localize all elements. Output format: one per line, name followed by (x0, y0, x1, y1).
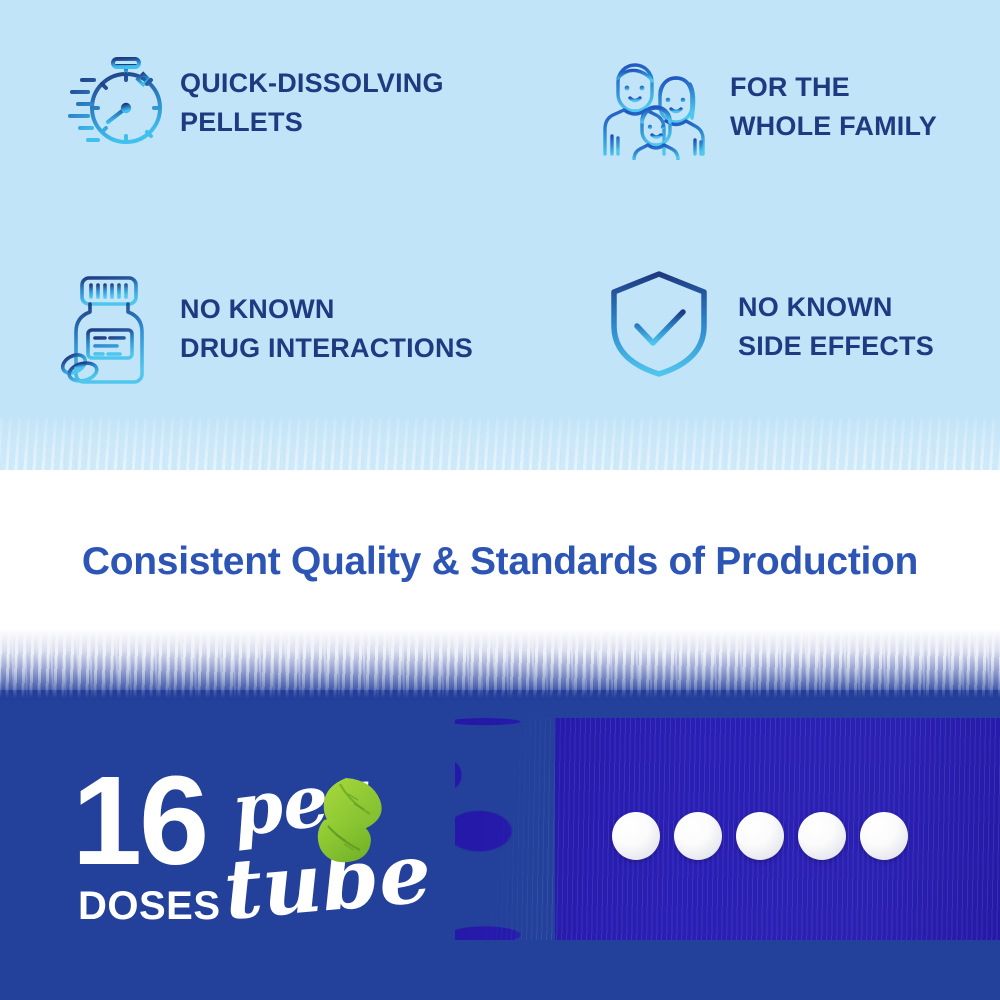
feature-line-1: QUICK-DISSOLVING (180, 68, 444, 98)
feature-line-2: SIDE EFFECTS (738, 331, 934, 361)
pellet-icon (674, 812, 722, 860)
pellet-icon (736, 812, 784, 860)
feature-line-2: PELLETS (180, 107, 303, 137)
doses-count: 16 (72, 758, 206, 884)
doses-label: DOSES (78, 884, 221, 929)
doses-block: 16 DOSES per tube (72, 762, 452, 937)
pellet-row (612, 812, 908, 860)
watercolor-grain-bottom (0, 618, 1000, 698)
pellet-icon (798, 812, 846, 860)
mint-leaf-icon (304, 772, 390, 873)
feature-line-2: WHOLE FAMILY (730, 111, 937, 141)
pellet-icon (612, 812, 660, 860)
feature-line-1: NO KNOWN (180, 294, 335, 324)
pellet-icon (860, 812, 908, 860)
feature-label: NO KNOWN SIDE EFFECTS (738, 288, 934, 365)
shield-check-icon (604, 266, 714, 387)
feature-line-2: DRUG INTERACTIONS (180, 333, 473, 363)
feature-no-side-effects: NO KNOWN SIDE EFFECTS (604, 266, 934, 387)
feature-line-1: FOR THE (730, 72, 850, 102)
feature-label: QUICK-DISSOLVING PELLETS (180, 64, 444, 141)
page-title: Consistent Quality & Standards of Produc… (0, 540, 1000, 584)
family-icon (598, 48, 710, 165)
infographic-root: QUICK-DISSOLVING PELLETS (0, 0, 1000, 1000)
feature-no-drug-interactions: NO KNOWN DRUG INTERACTIONS (58, 268, 473, 389)
feature-quick-dissolving: QUICK-DISSOLVING PELLETS (68, 48, 444, 157)
stopwatch-icon (68, 48, 164, 157)
feature-label: FOR THE WHOLE FAMILY (730, 68, 937, 145)
feature-label: NO KNOWN DRUG INTERACTIONS (180, 290, 473, 367)
feature-whole-family: FOR THE WHOLE FAMILY (598, 48, 937, 165)
feature-line-1: NO KNOWN (738, 292, 893, 322)
feature-grid: QUICK-DISSOLVING PELLETS (0, 0, 1000, 430)
pill-bottle-icon (58, 268, 162, 389)
